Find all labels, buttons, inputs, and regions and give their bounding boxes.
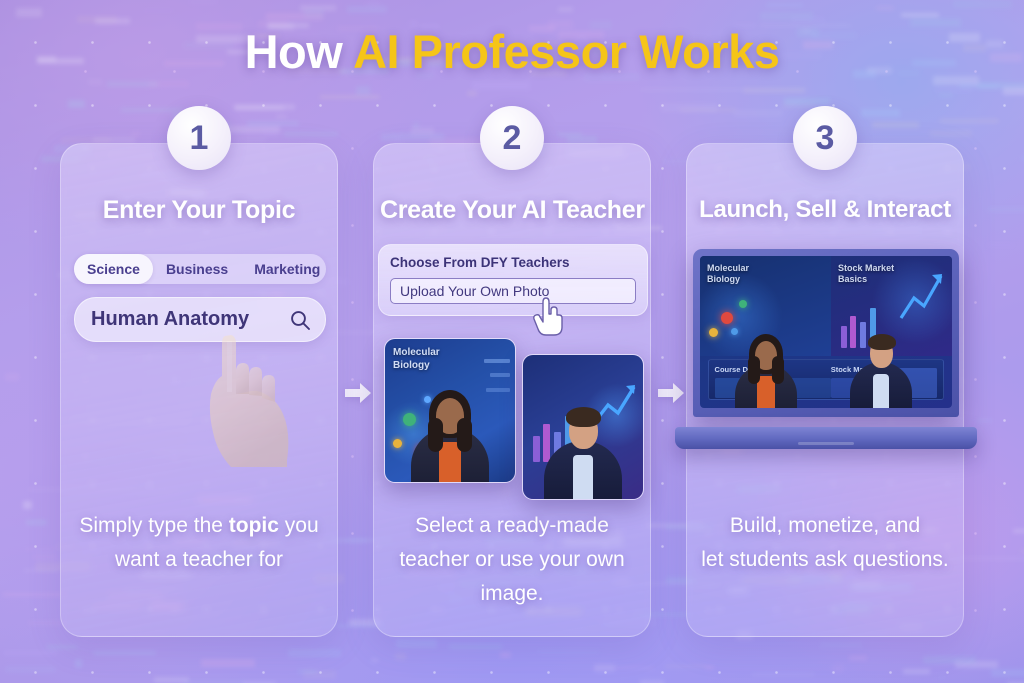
arrow-step1-to-step2: [343, 378, 373, 408]
chip-science[interactable]: Science: [74, 254, 153, 284]
step-heading-2: Create Your AI Teacher: [380, 196, 644, 225]
caption-3-line1: Build, monetize, and: [730, 514, 920, 537]
step-heading-1: Enter Your Topic: [67, 196, 331, 225]
laptop-screen: MolecularBiology Stock MarketBasics: [700, 256, 952, 408]
dfy-panel-label: Choose From DFY Teachers: [390, 255, 636, 270]
laptop-mockup: MolecularBiology Stock MarketBasics: [675, 249, 977, 449]
female-teacher-photo[interactable]: MolecularBiology: [384, 338, 516, 483]
page-title: How AI Professor Works: [0, 24, 1024, 79]
chip-business[interactable]: Business: [153, 254, 241, 284]
topic-search-input[interactable]: Human Anatomy: [91, 308, 289, 331]
topic-category-tabs: Science Business Marketing: [74, 254, 326, 284]
laptop-base: [675, 427, 977, 449]
step-heading-3: Launch, Sell & Interact: [693, 196, 957, 224]
page-title-accent: AI Professor Works: [353, 25, 779, 78]
male-teacher-photo[interactable]: [522, 354, 644, 500]
screen-left-label: MolecularBiology: [707, 263, 749, 286]
step-badge-2: 2: [480, 106, 544, 170]
step-caption-1: Simply type the topic you want a teacher…: [71, 509, 327, 577]
search-icon[interactable]: [289, 309, 311, 331]
step-card-2: 2 Create Your AI Teacher Choose From DFY…: [373, 143, 651, 637]
caption-3-line2: let students ask questions.: [701, 548, 948, 571]
chip-marketing[interactable]: Marketing: [241, 254, 333, 284]
caption-1-before: Simply type the: [79, 514, 228, 537]
dfy-teachers-panel: Choose From DFY Teachers Upload Your Own…: [378, 244, 648, 316]
upload-own-photo-button[interactable]: Upload Your Own Photo: [390, 278, 636, 304]
photo-a-backdrop-label: MolecularBiology: [393, 347, 440, 372]
topic-search-bar[interactable]: Human Anatomy: [74, 297, 326, 342]
step-caption-3: Build, monetize, and let students ask qu…: [697, 509, 953, 577]
step-badge-3: 3: [793, 106, 857, 170]
step-badge-1: 1: [167, 106, 231, 170]
laptop-lid: MolecularBiology Stock MarketBasics: [693, 249, 959, 417]
caption-1-bold: topic: [229, 514, 279, 537]
pointing-hand-photo: [191, 332, 303, 467]
screen-right-label: Stock MarketBasics: [838, 263, 894, 286]
infographic-canvas: How AI Professor Works 1 Enter Your Topi…: [0, 0, 1024, 683]
page-title-plain: How: [245, 25, 354, 78]
step-card-1: 1 Enter Your Topic Science Business Mark…: [60, 143, 338, 637]
step-card-3: 3 Launch, Sell & Interact MolecularBiolo…: [686, 143, 964, 637]
step-caption-2: Select a ready-made teacher or use your …: [384, 509, 640, 611]
